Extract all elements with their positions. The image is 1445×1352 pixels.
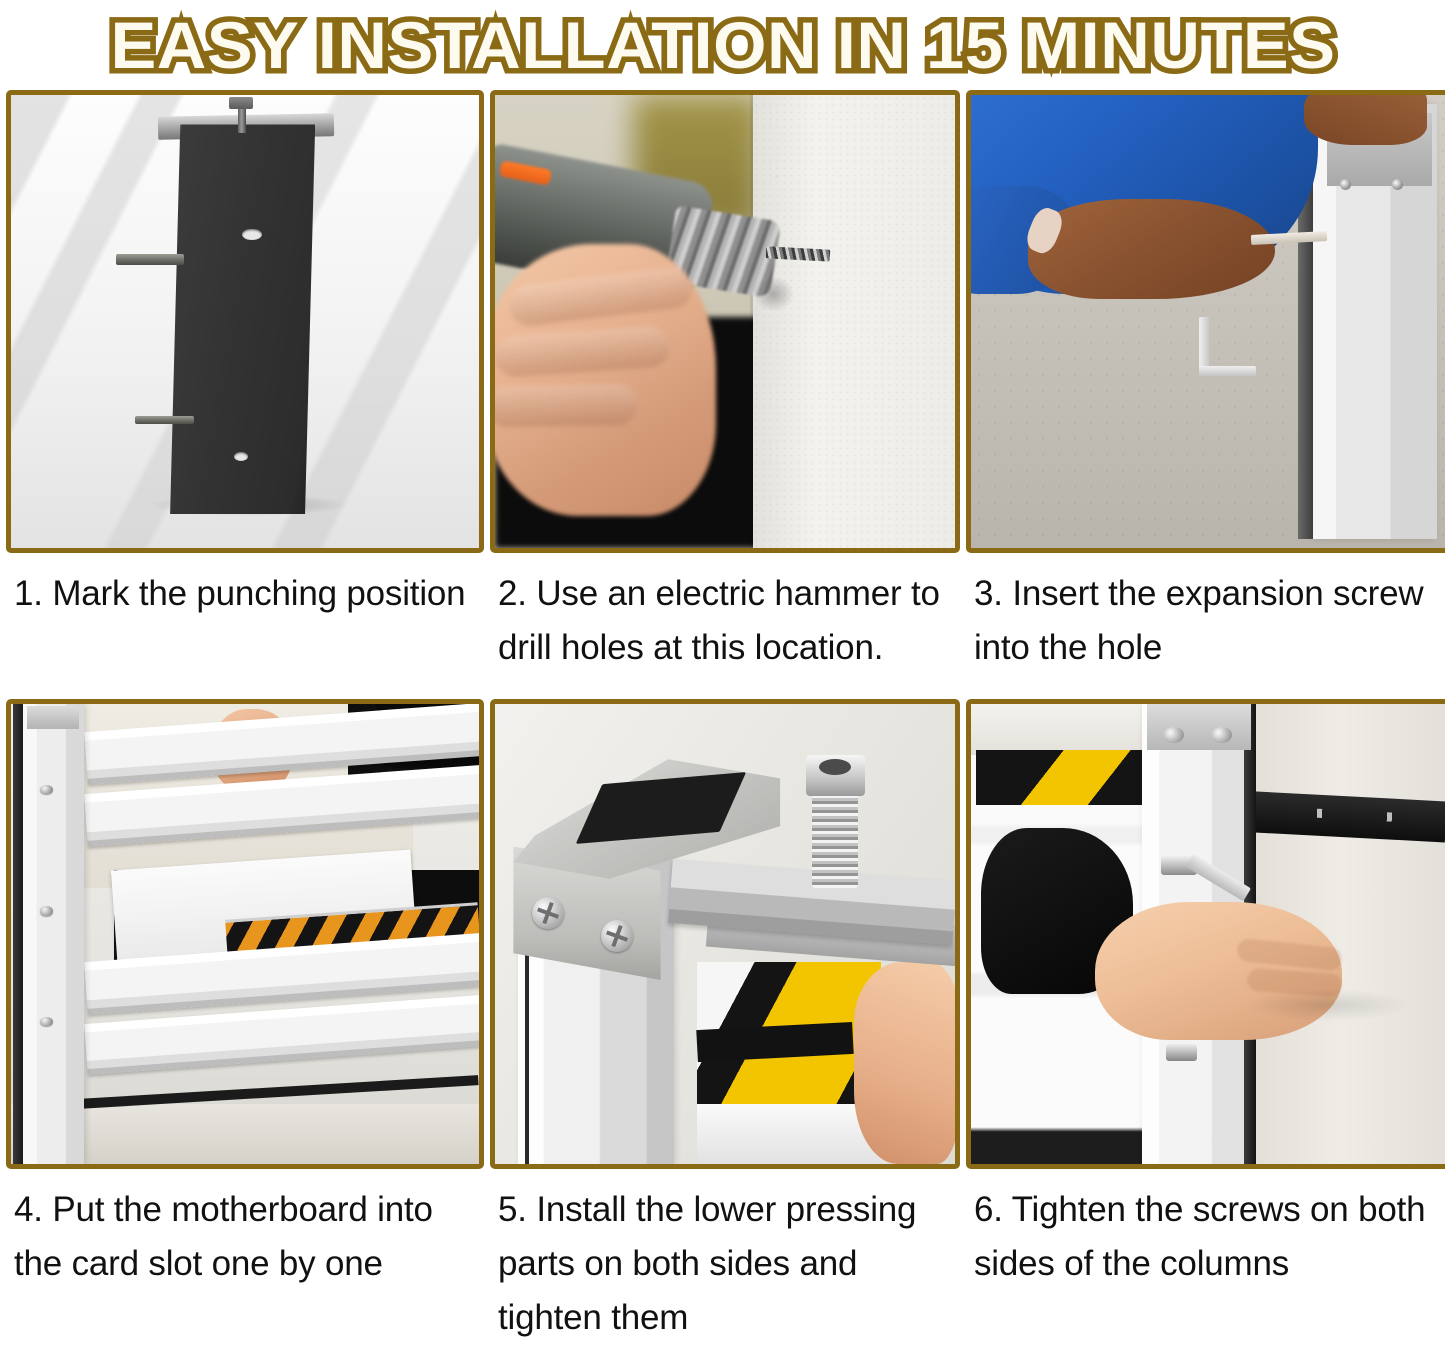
title-banner: EASY INSTALLATION IN 15 MINUTES [0,0,1445,90]
step-card-4: 4. Put the motherboard into the card slo… [6,699,484,1345]
hand-shadow [1247,989,1409,1021]
white-column-slot [23,704,84,1164]
textured-wall [753,95,955,548]
steps-row-1: 1. Mark the punching position 2. Use [0,90,1445,675]
step-caption-2: 2. Use an electric hammer to drill holes… [490,553,960,675]
top-plate-screw-1 [1163,727,1184,743]
top-plate-screw-2 [1211,727,1232,743]
step-card-5: 5. Install the lower pressing parts on b… [490,699,960,1345]
photo-expansion-screw [971,95,1445,548]
step-card-2: 2. Use an electric hammer to drill holes… [490,90,960,675]
column-screw-1 [40,785,52,795]
panel-top-edge [971,704,1152,755]
wall-corner-edge [750,95,753,548]
step-caption-4: 4. Put the motherboard into the card slo… [6,1169,484,1291]
installer-hand [854,962,955,1164]
steps-row-2: 4. Put the motherboard into the card slo… [0,699,1445,1345]
photo-tighten-screws [971,704,1445,1164]
row-spacer [0,675,1445,699]
mounting-hole-lower [234,452,248,461]
worker-upper-hand [1304,95,1428,145]
expansion-screw-lower [135,416,194,424]
step-caption-6: 6. Tighten the screws on both sides of t… [966,1169,1445,1291]
photo-pressing-part [495,704,955,1164]
step-photo-3 [966,90,1445,553]
step-caption-5: 5. Install the lower pressing parts on b… [490,1169,960,1345]
column-bolt-1 [1340,179,1351,190]
page-title: EASY INSTALLATION IN 15 MINUTES [110,10,1335,80]
step-photo-5 [490,699,960,1169]
photo-hammer-drill [495,95,955,548]
hazard-stripe-panel [976,750,1142,805]
step-card-3: 3. Insert the expansion screw into the h… [966,90,1445,675]
drill-dust-cloud [753,276,794,312]
hex-key-on-floor [1199,317,1256,376]
photo-card-slot [11,704,479,1164]
column-screw-3 [40,1017,52,1027]
photo-column-post [11,95,479,548]
step-photo-2 [490,90,960,553]
step-photo-6 [966,699,1445,1169]
column-top-plate [1147,704,1252,750]
step-photo-4 [6,699,484,1169]
worker-arm [1028,199,1275,299]
step-photo-1 [6,90,484,553]
step-caption-3: 3. Insert the expansion screw into the h… [966,553,1445,675]
step-caption-1: 1. Mark the punching position [6,553,484,621]
expansion-screw-upper [116,254,184,265]
top-bolt-nut [229,97,253,109]
step-card-1: 1. Mark the punching position [6,90,484,675]
column-bolt-2 [1392,179,1403,190]
step-card-6: 6. Tighten the screws on both sides of t… [966,699,1445,1345]
column-side-screw-lower [1166,1044,1197,1061]
column-screw-2 [40,906,52,916]
finger-3 [495,384,638,427]
column-top-plate [27,706,78,729]
